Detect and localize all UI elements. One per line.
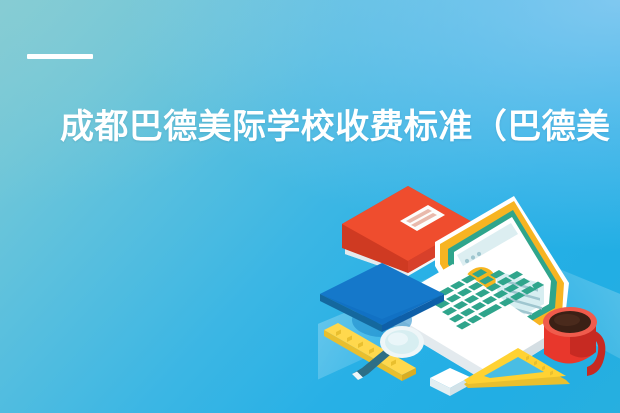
title-decoration-rule bbox=[27, 54, 93, 59]
page-title: 成都巴德美际学校收费标准（巴德美 bbox=[60, 104, 620, 150]
eraser bbox=[430, 368, 470, 396]
banner-card: 成都巴德美际学校收费标准（巴德美 bbox=[0, 0, 620, 413]
study-desk-illustration bbox=[318, 178, 620, 413]
